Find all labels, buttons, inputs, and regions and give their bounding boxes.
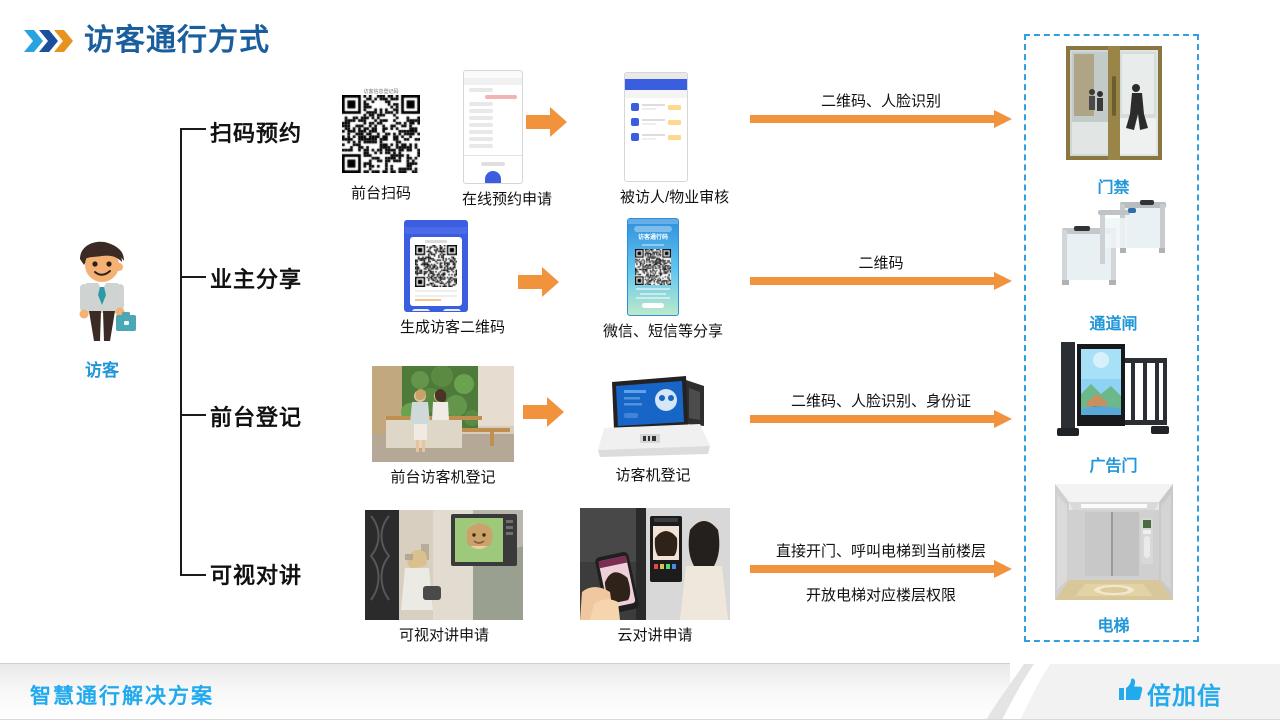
device-label: 通道闸: [1026, 310, 1201, 334]
transfer-arrow-row-2: 二维码: [750, 272, 1012, 302]
thumbs-up-icon: [1117, 678, 1143, 709]
long-arrow-icon: [750, 560, 1012, 578]
step-caption: 可视对讲申请: [365, 624, 523, 645]
branch-label-owner-share: 业主分享: [210, 262, 302, 294]
footer-bar: 智慧通行解决方案 倍加信: [0, 664, 1280, 720]
target-devices-panel: 门禁: [1024, 34, 1199, 642]
phone-qr-generate-mock: [404, 220, 468, 312]
step-visitor-kiosk-register: 访客机登记: [588, 368, 718, 485]
brand-block: 倍加信: [1117, 676, 1222, 711]
step-caption: 被访人/物业审核: [620, 186, 692, 207]
chevron-triple-icon: [22, 26, 74, 56]
device-label: 广告门: [1026, 452, 1201, 476]
step-caption: 生成访客二维码: [400, 316, 472, 337]
photo-door-intercom: [365, 510, 523, 620]
step-caption: 前台扫码: [335, 182, 427, 203]
phone-form-mock: [463, 70, 523, 184]
arrow-label-top: 直接开门、呼叫电梯到当前楼层: [750, 540, 1012, 561]
arrow-label-bottom: 开放电梯对应楼层权限: [750, 584, 1012, 605]
page-title: 访客通行方式: [84, 26, 270, 56]
footer-left-panel: 智慧通行解决方案: [0, 663, 1010, 720]
glass-door-access-image: [1062, 44, 1166, 167]
flow-arrow-icon: [526, 105, 568, 144]
footer-right-panel: 倍加信: [980, 664, 1280, 720]
flow-arrow-icon: [523, 395, 565, 434]
transfer-arrow-row-4: 直接开门、呼叫电梯到当前楼层 开放电梯对应楼层权限: [750, 560, 1012, 590]
branch-label-front-desk: 前台登记: [210, 400, 302, 432]
step-caption: 微信、短信等分享: [603, 320, 703, 341]
device-access-control: 门禁: [1026, 44, 1201, 198]
phone-qr-share-mock: 访客通行码: [627, 218, 679, 316]
step-caption: 访客机登记: [588, 464, 718, 485]
advertising-gate-image: [1055, 340, 1173, 445]
arrow-label-top: 二维码: [750, 252, 1012, 273]
flow-arrow-icon: [518, 265, 560, 304]
step-caption: 前台访客机登记: [372, 466, 514, 487]
device-speed-gate: 通道闸: [1026, 194, 1201, 334]
page-title-bar: 访客通行方式: [22, 26, 270, 56]
long-arrow-icon: [750, 272, 1012, 290]
photo-cloud-intercom: [580, 508, 730, 620]
brand-name: 倍加信: [1147, 676, 1222, 711]
speed-gate-image: [1054, 194, 1174, 303]
branch-bracket: [180, 128, 216, 576]
step-online-appointment: 在线预约申请: [462, 70, 524, 209]
elevator-cabin-image: [1055, 484, 1173, 605]
branch-label-scan-appointment: 扫码预约: [210, 116, 302, 148]
step-reception-desk-register: 前台访客机登记: [372, 366, 514, 487]
photo-visitor-kiosk: [588, 368, 718, 460]
qr-code-icon: [342, 95, 420, 173]
device-elevator: 电梯: [1026, 484, 1201, 636]
long-arrow-icon: [750, 410, 1012, 428]
step-cloud-intercom-request: 云对讲申请: [580, 508, 730, 645]
branch-label-video-intercom: 可视对讲: [210, 558, 302, 590]
transfer-arrow-row-1: 二维码、人脸识别: [750, 110, 1012, 140]
step-caption: 在线预约申请: [462, 188, 524, 209]
visitor-label: 访客: [52, 356, 152, 381]
device-label: 电梯: [1026, 612, 1201, 636]
step-front-desk-scan: 访客信息登记码 前台扫码: [335, 90, 427, 203]
step-generate-visitor-qr: 生成访客二维码: [400, 220, 472, 337]
step-share-wechat-sms: 访客通行码 微信、短信等分享: [603, 218, 703, 341]
photo-reception-desk: [372, 366, 514, 462]
long-arrow-icon: [750, 110, 1012, 128]
device-advertising-gate: 广告门: [1026, 340, 1201, 476]
arrow-label-top: 二维码、人脸识别: [750, 90, 1012, 111]
businessman-avatar-icon: [56, 332, 148, 349]
phone-approval-list-mock: [624, 72, 688, 182]
transfer-arrow-row-3: 二维码、人脸识别、身份证: [750, 410, 1012, 440]
arrow-label-top: 二维码、人脸识别、身份证: [750, 390, 1012, 411]
footer-solution-title: 智慧通行解决方案: [30, 680, 214, 710]
visitor-actor: 访客: [52, 235, 152, 381]
step-visitee-approval: 被访人/物业审核: [620, 72, 692, 207]
step-video-intercom-request: 可视对讲申请: [365, 510, 523, 645]
step-caption: 云对讲申请: [580, 624, 730, 645]
